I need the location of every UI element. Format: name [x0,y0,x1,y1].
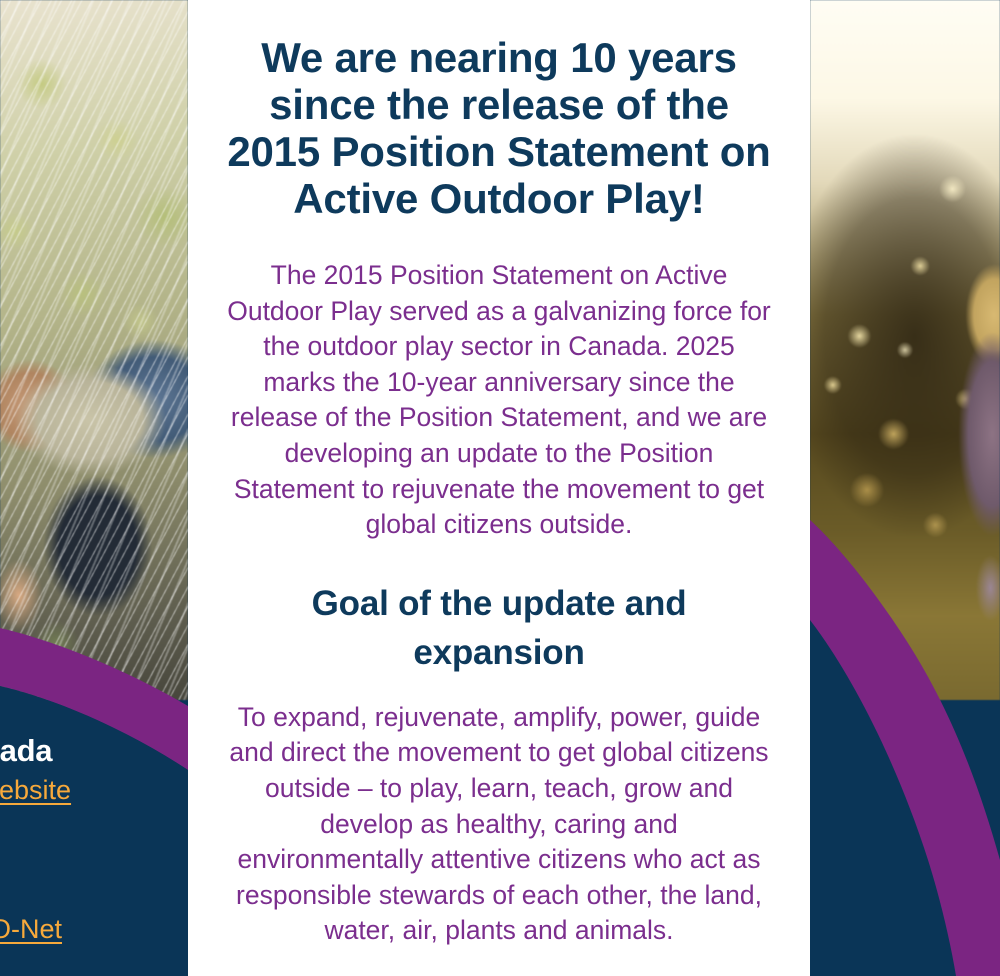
main-content-panel: We are nearing 10 years since the releas… [188,0,810,976]
left-curve-shapes [0,0,188,976]
sidebar-link-network[interactable]: TO-Net [0,914,62,945]
page-title: We are nearing 10 years since the releas… [221,34,777,222]
right-curve-shapes [810,0,1000,976]
left-side-panel: Canada Website TO-Net [0,0,188,976]
poster-page: Canada Website TO-Net We are nearing 10 … [0,0,1000,976]
section-heading-goal: Goal of the update and expansion [221,579,777,677]
right-side-panel [810,0,1000,976]
goal-paragraph: To expand, rejuvenate, amplify, power, g… [221,700,777,949]
sidebar-link-website[interactable]: Website [0,775,71,806]
intro-paragraph: The 2015 Position Statement on Active Ou… [221,258,777,543]
organization-name: Canada [0,733,52,769]
